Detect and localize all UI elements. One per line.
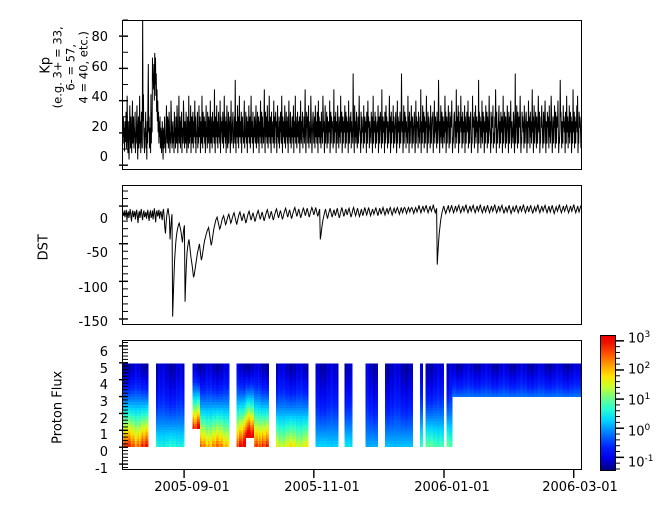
- dst-tick-marks: [108, 184, 128, 326]
- kp-ytick-40: 40: [62, 90, 108, 105]
- flux-ytick-0: 0: [70, 445, 108, 460]
- flux-ytick-5: 5: [70, 362, 108, 377]
- flux-ytick-4: 4: [70, 378, 108, 393]
- kp-ytick-80: 80: [62, 30, 108, 45]
- dst-panel: [122, 185, 582, 325]
- flux-xtick-marks: [121, 470, 583, 480]
- xtick-label-2: 2006-01-01: [402, 480, 502, 495]
- flux-ytick-6: 6: [70, 345, 108, 360]
- cbar-label-1: 101: [628, 392, 650, 408]
- dst-series-line: [123, 205, 581, 317]
- xtick-label-0: 2005-09-01: [142, 480, 242, 495]
- cbar-label-3: 103: [628, 330, 650, 346]
- dst-ytick-0: 0: [52, 212, 108, 227]
- scientific-figure: Kp (e.g. 3+ = 33, 6- = 57, 4 = 40, etc.)…: [0, 0, 665, 523]
- kp-ytick-0: 0: [62, 150, 108, 165]
- kp-ytick-20: 20: [62, 120, 108, 135]
- xtick-label-1: 2005-11-01: [272, 480, 372, 495]
- kp-panel: [122, 20, 582, 170]
- cbar-label-2: 102: [628, 361, 650, 377]
- cbar-label-0: 100: [628, 423, 650, 439]
- cbar-label-n1: 10-1: [628, 454, 654, 470]
- kp-xtick-marks: [121, 170, 583, 180]
- kp-series-line: [123, 21, 581, 159]
- flux-ytick-2: 2: [70, 412, 108, 427]
- flux-ytick-n1: -1: [64, 462, 108, 477]
- colorbar: [600, 335, 616, 471]
- dst-ytick-n50: -50: [52, 246, 108, 261]
- dst-xtick-marks: [121, 325, 583, 335]
- kp-ytick-60: 60: [62, 60, 108, 75]
- dst-axis-label: DST: [38, 207, 53, 287]
- flux-ytick-1: 1: [70, 428, 108, 443]
- dst-ytick-n150: -150: [52, 315, 108, 330]
- dst-ytick-n100: -100: [52, 281, 108, 296]
- xtick-label-3: 2006-03-01: [530, 480, 630, 495]
- flux-panel: [122, 340, 582, 470]
- kp-tick-marks: [108, 19, 128, 171]
- flux-axis-label: Proton Flux: [52, 342, 67, 472]
- flux-tick-marks: [108, 339, 128, 471]
- flux-ytick-3: 3: [70, 395, 108, 410]
